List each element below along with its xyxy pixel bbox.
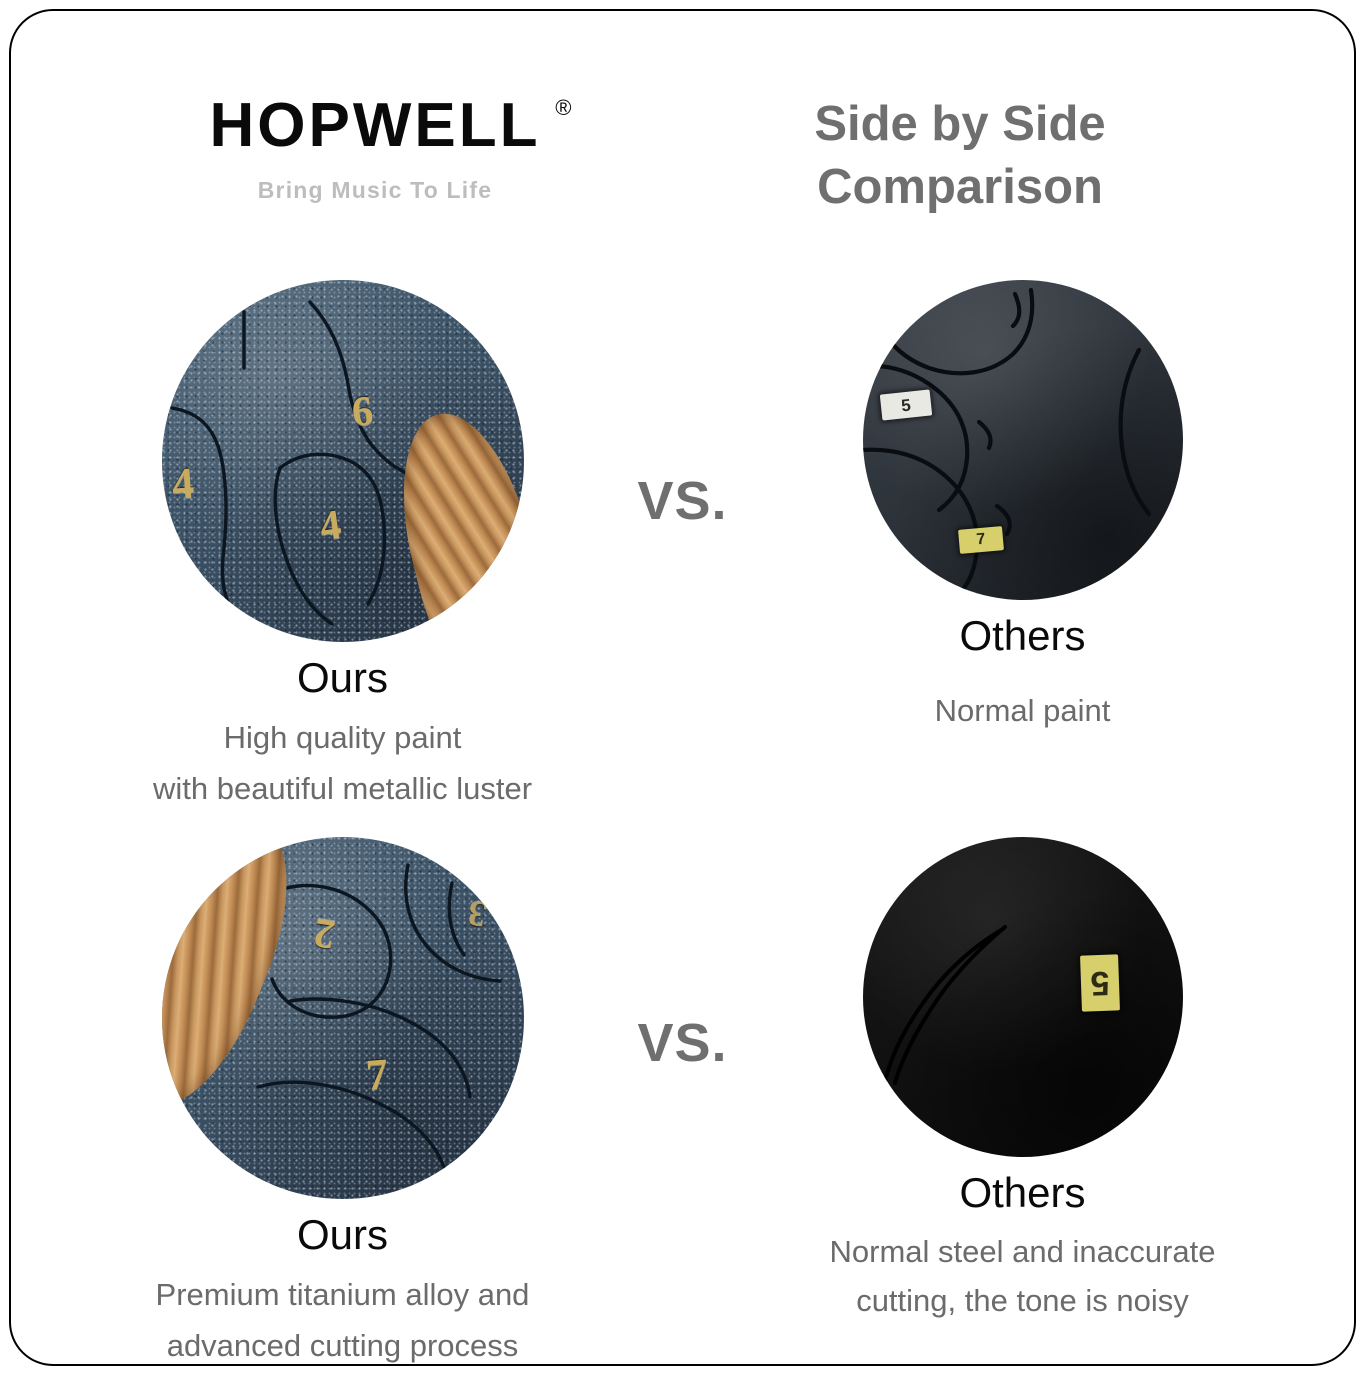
header: HOPWELL ® Bring Music To Life Side by Si… [0,0,1365,260]
others-printed-sticker: 5 [1080,954,1120,1011]
others-column: 5 7 Others Normal paint [773,280,1273,736]
ours-note-number: 3 [464,891,489,935]
others-column: 5 Others Normal steel and inaccurate cut… [773,837,1273,1326]
brand-tagline: Bring Music To Life [140,177,610,204]
registered-trademark-icon: ® [555,97,574,119]
others-printed-sticker: 5 [879,389,931,420]
ours-column: 6 4 4 Ours High quality paint with beaut… [93,280,593,815]
comparison-row: 2 7 3 Ours Premium titanium alloy and ad… [0,837,1365,1375]
others-caption-title: Others [959,1169,1085,1217]
comparison-page: HOPWELL ® Bring Music To Life Side by Si… [0,0,1365,1375]
ours-caption-title: Ours [297,1211,388,1259]
ours-column: 2 7 3 Ours Premium titanium alloy and ad… [93,837,593,1375]
caption-line: The tone is beautiful and clear [135,1371,550,1375]
versus-separator: VS. [593,280,773,532]
ours-caption-body: High quality paint with beautiful metall… [153,712,532,814]
versus-separator: VS. [593,837,773,1074]
caption-line: with beautiful metallic luster [153,763,532,814]
tongue-cut-lines [162,280,524,642]
versus-label: VS. [637,470,727,532]
ours-note-number: 7 [364,1048,390,1100]
others-printed-sticker: 7 [958,526,1004,554]
ours-product-photo: 2 7 3 [162,837,524,1199]
caption-line: advanced cutting process [135,1320,550,1371]
caption-line: Normal paint [935,686,1111,736]
comparison-grid: 6 4 4 Ours High quality paint with beaut… [0,280,1365,1375]
others-caption-title: Others [959,612,1085,660]
page-title: Side by Side Comparison [700,93,1220,218]
brand-wordmark: HOPWELL ® [210,95,541,157]
ours-note-number: 2 [310,907,337,957]
versus-label: VS. [637,1012,727,1074]
metallic-speckle-texture [162,280,524,642]
brand-wordmark-text: HOPWELL [210,91,541,160]
metallic-speckle-texture [162,837,524,1199]
ours-product-photo: 6 4 4 [162,280,524,642]
brand-block: HOPWELL ® Bring Music To Life [140,95,610,204]
ours-note-number: 4 [316,501,343,551]
others-product-photo: 5 [863,837,1183,1157]
others-caption-body: Normal steel and inaccurate cutting, the… [830,1227,1216,1326]
braided-rope-rim [162,837,318,1127]
braided-rope-rim [379,400,524,642]
tongue-cut-lines [162,837,524,1199]
ours-note-number: 6 [349,387,375,437]
tongue-cut-lines [863,837,1183,1157]
others-product-photo: 5 7 [863,280,1183,600]
ours-caption-body: Premium titanium alloy and advanced cutt… [135,1269,550,1375]
comparison-row: 6 4 4 Ours High quality paint with beaut… [0,280,1365,815]
ours-note-number: 4 [170,457,196,509]
tongue-cut-lines [863,280,1183,600]
caption-line: Premium titanium alloy and [135,1269,550,1320]
ours-caption-title: Ours [297,654,388,702]
caption-line: Normal steel and inaccurate [830,1227,1216,1277]
caption-line: cutting, the tone is noisy [830,1276,1216,1326]
others-caption-body: Normal paint [935,686,1111,736]
caption-line: High quality paint [153,712,532,763]
